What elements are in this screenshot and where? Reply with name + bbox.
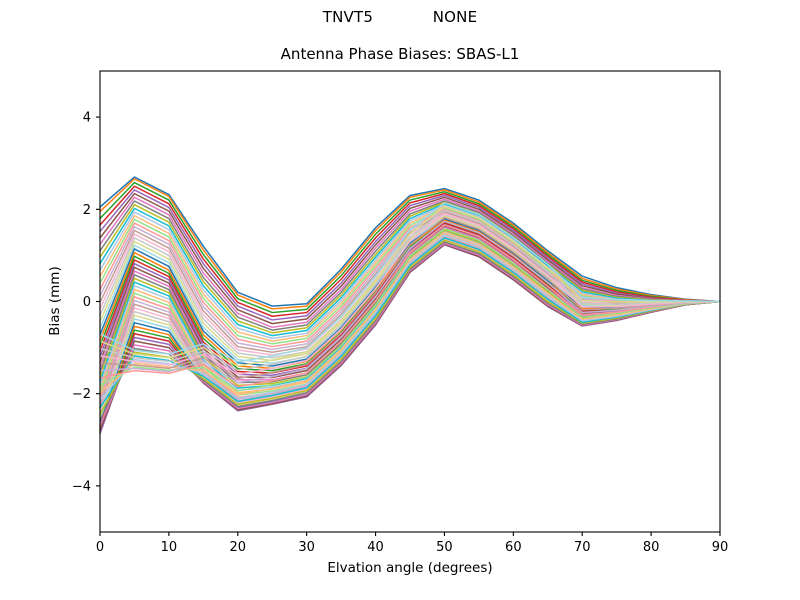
plot-area: 0102030405060708090−4−2024 Elvation angl… [0,0,800,600]
x-tick-label: 80 [643,540,660,555]
y-axis-label: Bias (mm) [47,266,63,335]
x-tick-label: 0 [96,540,104,555]
y-tick-label: −2 [72,387,91,402]
y-tick-label: 2 [83,203,91,218]
y-tick-label: 4 [83,111,91,126]
x-tick-label: 10 [161,540,178,555]
x-axis-label: Elvation angle (degrees) [327,560,492,576]
x-tick-label: 30 [298,540,315,555]
y-tick-label: −4 [72,479,91,494]
x-tick-label: 20 [230,540,247,555]
figure-canvas: TNVT5 NONE Antenna Phase Biases: SBAS-L1… [0,0,800,600]
y-tick-label: 0 [83,295,91,310]
x-tick-label: 70 [574,540,591,555]
x-tick-label: 60 [505,540,522,555]
x-tick-label: 40 [367,540,384,555]
x-tick-label: 50 [436,540,453,555]
x-tick-label: 90 [712,540,729,555]
data-lines-group [100,177,720,434]
